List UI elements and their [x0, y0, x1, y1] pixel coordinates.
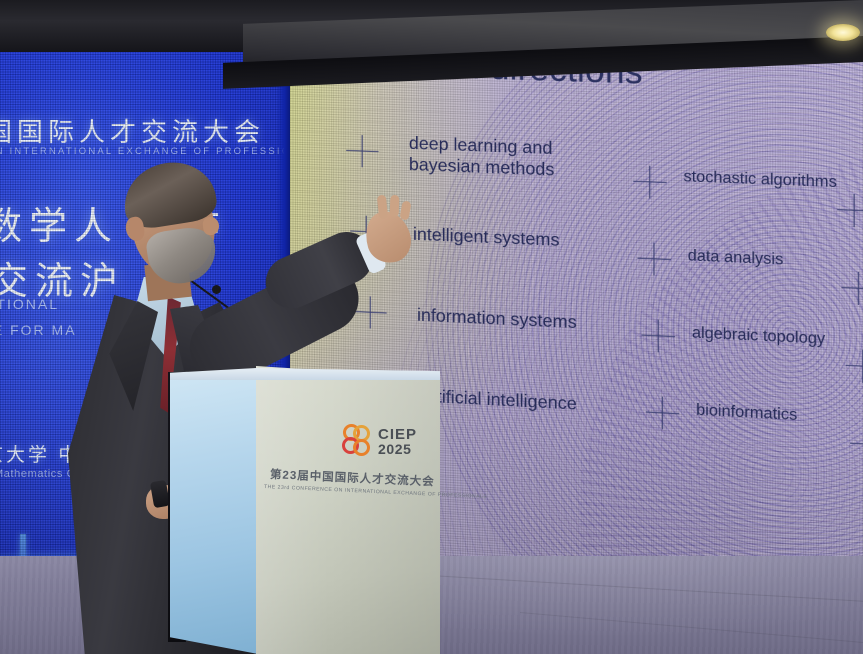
plus-marker-icon: [846, 349, 863, 384]
slide-item-label: bioinformatics: [696, 400, 797, 425]
ciep-logo-name: CIEP: [378, 427, 417, 442]
plus-marker-icon: [633, 165, 666, 199]
slide-item: mo of c: [837, 191, 863, 280]
banner-headline-cn: 国国际人才交流大会: [0, 112, 265, 149]
slide-item-label: deep learning and bayesian methods: [409, 133, 555, 181]
podium-side-panel: [170, 374, 258, 654]
ciep-loops-icon: [342, 424, 372, 458]
conference-scene: research directions deep learning and ba…: [0, 0, 863, 654]
plus-marker-icon: [837, 193, 863, 227]
plus-marker-icon: [841, 271, 863, 306]
podium-front-panel: [256, 366, 440, 654]
ciep-logo-year: 2025: [378, 442, 417, 456]
slide-item: stochastic algorithms: [633, 163, 844, 252]
ceiling-spotlight: [826, 24, 860, 41]
slide-item-label: information systems: [417, 305, 577, 334]
plus-marker-icon: [642, 319, 675, 353]
plus-marker-icon: [354, 296, 386, 330]
slide-column-right-cropped: mo of c me pr na p s: [837, 191, 863, 527]
loop: [353, 439, 370, 456]
ciep-logo: CIEP 2025: [342, 420, 428, 462]
ciep-logo-text: CIEP 2025: [378, 427, 417, 456]
plus-marker-icon: [346, 135, 378, 168]
plus-marker-icon: [850, 427, 863, 462]
banner-subtitle-en-1: NATIONAL: [0, 296, 59, 312]
slide-item-label: stochastic algorithms: [684, 167, 837, 192]
plus-marker-icon: [646, 396, 680, 430]
slide-item-label: intelligent systems: [413, 224, 560, 251]
plus-marker-icon: [637, 242, 670, 276]
slide-item: bioinformatics: [633, 405, 844, 498]
podium-top-surface: [170, 368, 440, 380]
slide-item: s: [837, 437, 863, 528]
finger: [390, 195, 400, 217]
podium: CIEP 2025 第23届中国国际人才交流大会 THE 23rd CONFER…: [170, 366, 440, 654]
slide-item-label: data analysis: [688, 246, 784, 270]
nose: [202, 216, 220, 236]
slide-column-middle: stochastic algorithms data analysis alge…: [633, 163, 844, 498]
